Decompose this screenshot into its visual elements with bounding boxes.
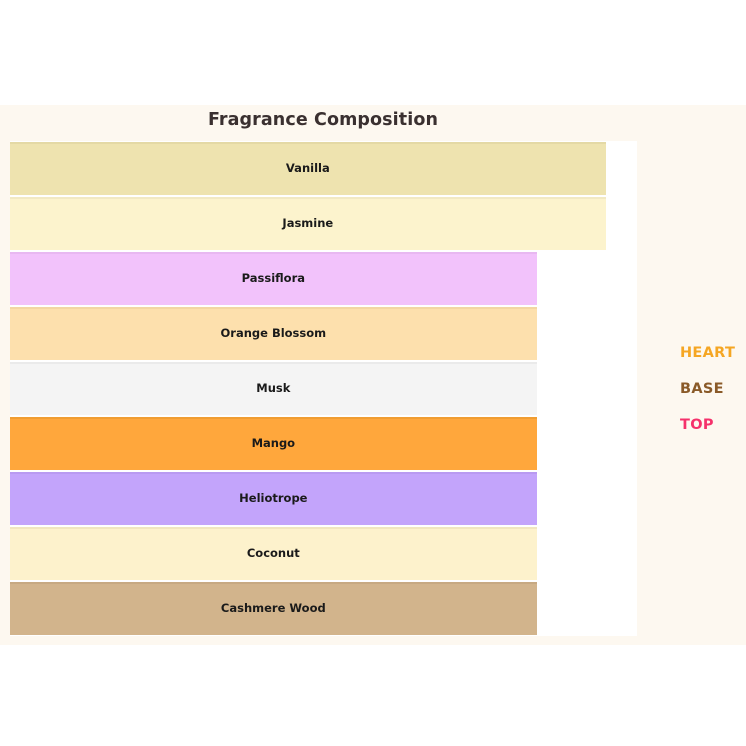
legend-entry-base[interactable]: BASE — [680, 381, 724, 397]
bar-row[interactable]: Cashmere Wood — [10, 582, 637, 635]
bar-row[interactable]: Heliotrope — [10, 472, 637, 525]
legend-entry-heart[interactable]: HEART — [680, 345, 735, 361]
plot-area: VanillaJasminePassifloraOrange BlossomMu… — [10, 141, 637, 636]
bar-row[interactable]: Vanilla — [10, 142, 637, 195]
bar-row[interactable]: Mango — [10, 417, 637, 470]
bar[interactable] — [10, 142, 606, 195]
bar-row[interactable]: Musk — [10, 362, 637, 415]
chart-legend: HEARTBASETOP — [660, 141, 746, 636]
bar[interactable] — [10, 417, 537, 470]
chart-figure: Fragrance Composition VanillaJasminePass… — [0, 105, 746, 645]
bar[interactable] — [10, 362, 537, 415]
bar-row[interactable]: Passiflora — [10, 252, 637, 305]
bar[interactable] — [10, 307, 537, 360]
bar[interactable] — [10, 197, 606, 250]
chart-title: Fragrance Composition — [0, 110, 646, 130]
legend-entry-top[interactable]: TOP — [680, 417, 714, 433]
bar[interactable] — [10, 582, 537, 635]
bar[interactable] — [10, 527, 537, 580]
bar-row[interactable]: Coconut — [10, 527, 637, 580]
bar[interactable] — [10, 472, 537, 525]
bar-row[interactable]: Jasmine — [10, 197, 637, 250]
bar[interactable] — [10, 252, 537, 305]
bar-row[interactable]: Orange Blossom — [10, 307, 637, 360]
